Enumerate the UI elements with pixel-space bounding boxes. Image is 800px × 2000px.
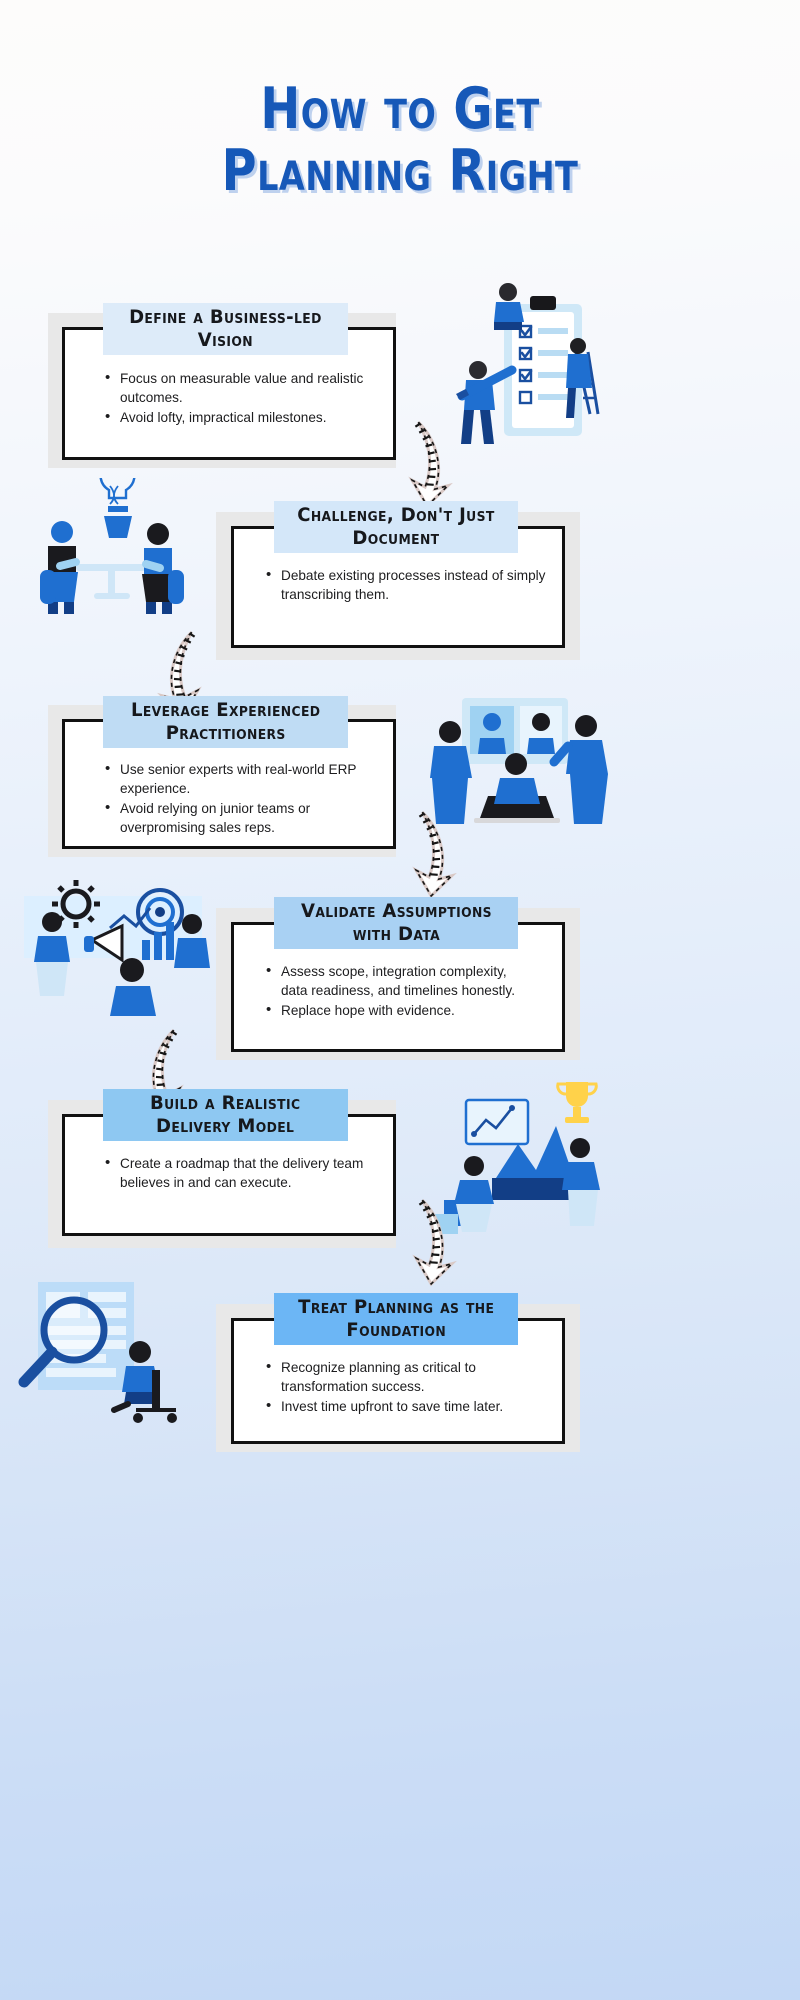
step-3-header-line-1: Leverage Experienced (131, 699, 320, 722)
step-5-header-line-2: Delivery Model (150, 1115, 300, 1138)
meeting-table-lightbulb-illustration (18, 478, 203, 628)
list-item: Assess scope, integration complexity, da… (264, 962, 524, 1000)
step-2-header-line-1: Challenge, Don't Just (297, 504, 494, 527)
step-5-header: Build a Realistic Delivery Model (103, 1089, 348, 1141)
arrow-step-5-to-6 (400, 1196, 472, 1288)
title-line-1: How to Get (28, 78, 772, 140)
step-4-header: Validate Assumptions with Data (274, 897, 518, 949)
step-6-bullets: Recognize planning as critical to transf… (264, 1358, 554, 1417)
step-6-header-line-2: Foundation (298, 1319, 494, 1342)
step-2-bullets: Debate existing processes instead of sim… (264, 566, 554, 605)
step-3-header-line-2: Practitioners (131, 722, 320, 745)
list-item: Focus on measurable value and realistic … (103, 369, 378, 407)
page-title: How to Get Planning Right (0, 78, 800, 202)
list-item: Replace hope with evidence. (264, 1001, 524, 1020)
step-4-bullets: Assess scope, integration complexity, da… (264, 962, 524, 1021)
list-item: Create a roadmap that the delivery team … (103, 1154, 378, 1192)
step-1-header: Define a Business-led Vision (103, 303, 348, 355)
step-1-header-line-1: Define a Business-led (129, 306, 322, 329)
infographic-page: How to Get Planning Right Define a Busin… (0, 0, 800, 2000)
list-item: Recognize planning as critical to transf… (264, 1358, 554, 1396)
step-2-header-line-2: Document (297, 527, 494, 550)
list-item: Avoid relying on junior teams or overpro… (103, 799, 381, 837)
list-item: Debate existing processes instead of sim… (264, 566, 554, 604)
step-6-header-line-1: Treat Planning as the (298, 1296, 494, 1319)
list-item: Invest time upfront to save time later. (264, 1397, 554, 1416)
step-6-header: Treat Planning as the Foundation (274, 1293, 518, 1345)
clipboard-checklist-team-illustration (452, 278, 612, 468)
step-5-header-line-1: Build a Realistic (150, 1092, 300, 1115)
list-item: Use senior experts with real-world ERP e… (103, 760, 381, 798)
target-analytics-team-illustration (14, 878, 214, 1026)
magnifier-document-review-illustration (16, 1278, 206, 1428)
arrow-step-3-to-4 (400, 808, 472, 900)
step-1-header-line-2: Vision (129, 329, 322, 352)
list-item: Avoid lofty, impractical milestones. (103, 408, 378, 427)
step-1-bullets: Focus on measurable value and realistic … (103, 369, 378, 428)
step-3-bullets: Use senior experts with real-world ERP e… (103, 760, 381, 838)
step-2-header: Challenge, Don't Just Document (274, 501, 518, 553)
title-line-2: Planning Right (28, 140, 772, 202)
step-4-header-line-2: with Data (301, 923, 492, 946)
step-3-header: Leverage Experienced Practitioners (103, 696, 348, 748)
step-4-header-line-1: Validate Assumptions (301, 900, 492, 923)
arrow-step-1-to-2 (396, 418, 468, 510)
step-5-bullets: Create a roadmap that the delivery team … (103, 1154, 378, 1193)
